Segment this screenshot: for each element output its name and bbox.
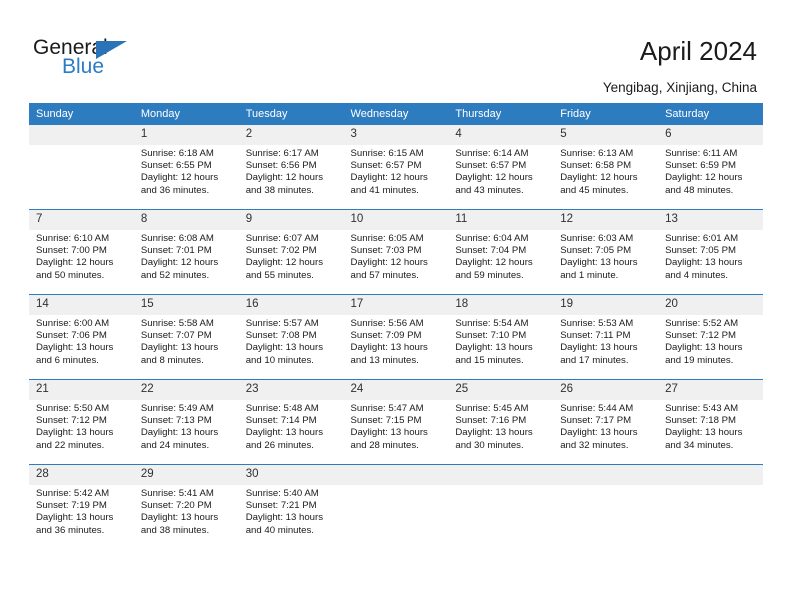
sunset-text: Sunset: 6:59 PM (665, 160, 758, 172)
sunrise-text: Sunrise: 5:41 AM (141, 488, 234, 500)
calendar-day-cell[interactable]: 12Sunrise: 6:03 AMSunset: 7:05 PMDayligh… (553, 210, 658, 295)
daylight-text-line2: and 30 minutes. (455, 440, 548, 452)
sunset-text: Sunset: 7:19 PM (36, 500, 129, 512)
daylight-text-line1: Daylight: 13 hours (141, 512, 234, 524)
sunrise-text: Sunrise: 5:49 AM (141, 403, 234, 415)
daylight-text-line1: Daylight: 12 hours (141, 172, 234, 184)
daylight-text-line2: and 26 minutes. (246, 440, 339, 452)
day-cell-content: 20Sunrise: 5:52 AMSunset: 7:12 PMDayligh… (658, 295, 763, 379)
sunrise-text: Sunrise: 6:03 AM (560, 233, 653, 245)
day-cell-content: 24Sunrise: 5:47 AMSunset: 7:15 PMDayligh… (344, 380, 449, 464)
day-cell-content: 26Sunrise: 5:44 AMSunset: 7:17 PMDayligh… (553, 380, 658, 464)
calendar-day-cell[interactable]: 3Sunrise: 6:15 AMSunset: 6:57 PMDaylight… (344, 125, 449, 210)
day-cell-content: 6Sunrise: 6:11 AMSunset: 6:59 PMDaylight… (658, 125, 763, 209)
sunrise-text: Sunrise: 5:43 AM (665, 403, 758, 415)
day-cell-content: 12Sunrise: 6:03 AMSunset: 7:05 PMDayligh… (553, 210, 658, 294)
sunset-text: Sunset: 6:57 PM (351, 160, 444, 172)
day-cell-content (344, 465, 449, 549)
day-number: 28 (29, 465, 134, 485)
daylight-text-line2: and 15 minutes. (455, 355, 548, 367)
day-sun-info: Sunrise: 5:44 AMSunset: 7:17 PMDaylight:… (553, 400, 658, 452)
sunrise-text: Sunrise: 6:13 AM (560, 148, 653, 160)
sunset-text: Sunset: 7:17 PM (560, 415, 653, 427)
calendar-day-cell[interactable]: 8Sunrise: 6:08 AMSunset: 7:01 PMDaylight… (134, 210, 239, 295)
sunset-text: Sunset: 7:20 PM (141, 500, 234, 512)
calendar-day-cell[interactable]: 22Sunrise: 5:49 AMSunset: 7:13 PMDayligh… (134, 380, 239, 465)
day-cell-content (448, 465, 553, 549)
day-sun-info: Sunrise: 6:00 AMSunset: 7:06 PMDaylight:… (29, 315, 134, 367)
daylight-text-line1: Daylight: 13 hours (665, 342, 758, 354)
daylight-text-line2: and 32 minutes. (560, 440, 653, 452)
weekday-header-sunday: Sunday (29, 103, 134, 125)
sunrise-text: Sunrise: 5:54 AM (455, 318, 548, 330)
daylight-text-line1: Daylight: 12 hours (665, 172, 758, 184)
sunset-text: Sunset: 7:03 PM (351, 245, 444, 257)
day-number: 20 (658, 295, 763, 315)
day-cell-content: 23Sunrise: 5:48 AMSunset: 7:14 PMDayligh… (239, 380, 344, 464)
calendar-week-row: 28Sunrise: 5:42 AMSunset: 7:19 PMDayligh… (29, 465, 763, 550)
day-number: 19 (553, 295, 658, 315)
calendar-day-cell[interactable]: 27Sunrise: 5:43 AMSunset: 7:18 PMDayligh… (658, 380, 763, 465)
day-number: 25 (448, 380, 553, 400)
page-title: April 2024 (640, 36, 757, 67)
daylight-text-line2: and 41 minutes. (351, 185, 444, 197)
daylight-text-line1: Daylight: 13 hours (36, 512, 129, 524)
day-sun-info: Sunrise: 5:50 AMSunset: 7:12 PMDaylight:… (29, 400, 134, 452)
daylight-text-line1: Daylight: 12 hours (560, 172, 653, 184)
calendar-day-cell[interactable]: 19Sunrise: 5:53 AMSunset: 7:11 PMDayligh… (553, 295, 658, 380)
sunrise-text: Sunrise: 5:53 AM (560, 318, 653, 330)
daylight-text-line2: and 57 minutes. (351, 270, 444, 282)
daylight-text-line2: and 1 minute. (560, 270, 653, 282)
daylight-text-line1: Daylight: 12 hours (351, 172, 444, 184)
daylight-text-line2: and 24 minutes. (141, 440, 234, 452)
weekday-header-thursday: Thursday (448, 103, 553, 125)
day-sun-info: Sunrise: 6:10 AMSunset: 7:00 PMDaylight:… (29, 230, 134, 282)
calendar-page: General Blue April 2024 Yengibag, Xinjia… (0, 0, 792, 612)
day-sun-info: Sunrise: 6:04 AMSunset: 7:04 PMDaylight:… (448, 230, 553, 282)
calendar-day-cell (29, 125, 134, 210)
day-number: 15 (134, 295, 239, 315)
daylight-text-line1: Daylight: 13 hours (351, 427, 444, 439)
day-cell-content: 9Sunrise: 6:07 AMSunset: 7:02 PMDaylight… (239, 210, 344, 294)
day-sun-info: Sunrise: 5:56 AMSunset: 7:09 PMDaylight:… (344, 315, 449, 367)
calendar-day-cell[interactable]: 20Sunrise: 5:52 AMSunset: 7:12 PMDayligh… (658, 295, 763, 380)
day-number: 7 (29, 210, 134, 230)
day-cell-content (553, 465, 658, 549)
day-sun-info: Sunrise: 6:11 AMSunset: 6:59 PMDaylight:… (658, 145, 763, 197)
page-subtitle: Yengibag, Xinjiang, China (603, 80, 757, 95)
daylight-text-line1: Daylight: 13 hours (665, 427, 758, 439)
sunset-text: Sunset: 7:10 PM (455, 330, 548, 342)
sunrise-text: Sunrise: 5:57 AM (246, 318, 339, 330)
weekday-header-tuesday: Tuesday (239, 103, 344, 125)
sunset-text: Sunset: 7:05 PM (560, 245, 653, 257)
day-cell-content: 3Sunrise: 6:15 AMSunset: 6:57 PMDaylight… (344, 125, 449, 209)
day-sun-info: Sunrise: 6:17 AMSunset: 6:56 PMDaylight:… (239, 145, 344, 197)
day-sun-info: Sunrise: 6:01 AMSunset: 7:05 PMDaylight:… (658, 230, 763, 282)
day-sun-info: Sunrise: 5:45 AMSunset: 7:16 PMDaylight:… (448, 400, 553, 452)
sunrise-text: Sunrise: 5:40 AM (246, 488, 339, 500)
calendar-day-cell[interactable]: 25Sunrise: 5:45 AMSunset: 7:16 PMDayligh… (448, 380, 553, 465)
daylight-text-line2: and 40 minutes. (246, 525, 339, 537)
calendar-day-cell[interactable]: 29Sunrise: 5:41 AMSunset: 7:20 PMDayligh… (134, 465, 239, 550)
calendar-week-row: 14Sunrise: 6:00 AMSunset: 7:06 PMDayligh… (29, 295, 763, 380)
daylight-text-line2: and 19 minutes. (665, 355, 758, 367)
daylight-text-line2: and 4 minutes. (665, 270, 758, 282)
sunrise-text: Sunrise: 6:10 AM (36, 233, 129, 245)
day-cell-content: 10Sunrise: 6:05 AMSunset: 7:03 PMDayligh… (344, 210, 449, 294)
daylight-text-line1: Daylight: 13 hours (560, 342, 653, 354)
sunset-text: Sunset: 7:13 PM (141, 415, 234, 427)
daylight-text-line1: Daylight: 13 hours (351, 342, 444, 354)
calendar-day-cell[interactable]: 30Sunrise: 5:40 AMSunset: 7:21 PMDayligh… (239, 465, 344, 550)
sunset-text: Sunset: 7:16 PM (455, 415, 548, 427)
daylight-text-line2: and 48 minutes. (665, 185, 758, 197)
day-sun-info: Sunrise: 5:52 AMSunset: 7:12 PMDaylight:… (658, 315, 763, 367)
day-number: 12 (553, 210, 658, 230)
day-cell-content: 11Sunrise: 6:04 AMSunset: 7:04 PMDayligh… (448, 210, 553, 294)
sunrise-text: Sunrise: 6:11 AM (665, 148, 758, 160)
calendar-day-cell (448, 465, 553, 550)
calendar-day-cell[interactable]: 4Sunrise: 6:14 AMSunset: 6:57 PMDaylight… (448, 125, 553, 210)
sunset-text: Sunset: 7:18 PM (665, 415, 758, 427)
sunrise-text: Sunrise: 5:56 AM (351, 318, 444, 330)
sunrise-text: Sunrise: 6:14 AM (455, 148, 548, 160)
day-sun-info: Sunrise: 5:41 AMSunset: 7:20 PMDaylight:… (134, 485, 239, 537)
calendar-day-cell[interactable]: 13Sunrise: 6:01 AMSunset: 7:05 PMDayligh… (658, 210, 763, 295)
day-sun-info: Sunrise: 5:42 AMSunset: 7:19 PMDaylight:… (29, 485, 134, 537)
day-cell-content: 4Sunrise: 6:14 AMSunset: 6:57 PMDaylight… (448, 125, 553, 209)
day-number: 17 (344, 295, 449, 315)
day-number: 6 (658, 125, 763, 145)
daylight-text-line1: Daylight: 12 hours (246, 172, 339, 184)
sunset-text: Sunset: 6:55 PM (141, 160, 234, 172)
daylight-text-line2: and 43 minutes. (455, 185, 548, 197)
daylight-text-line1: Daylight: 13 hours (560, 427, 653, 439)
calendar-day-cell[interactable]: 28Sunrise: 5:42 AMSunset: 7:19 PMDayligh… (29, 465, 134, 550)
day-sun-info: Sunrise: 5:43 AMSunset: 7:18 PMDaylight:… (658, 400, 763, 452)
day-sun-info: Sunrise: 5:58 AMSunset: 7:07 PMDaylight:… (134, 315, 239, 367)
sunset-text: Sunset: 7:09 PM (351, 330, 444, 342)
brand-word-blue: Blue (62, 55, 104, 79)
day-cell-content: 5Sunrise: 6:13 AMSunset: 6:58 PMDaylight… (553, 125, 658, 209)
daylight-text-line1: Daylight: 13 hours (141, 342, 234, 354)
sunset-text: Sunset: 6:57 PM (455, 160, 548, 172)
calendar-day-cell (553, 465, 658, 550)
day-number: 23 (239, 380, 344, 400)
daylight-text-line1: Daylight: 13 hours (246, 342, 339, 354)
day-sun-info: Sunrise: 5:40 AMSunset: 7:21 PMDaylight:… (239, 485, 344, 537)
sunrise-text: Sunrise: 6:05 AM (351, 233, 444, 245)
daylight-text-line2: and 6 minutes. (36, 355, 129, 367)
day-cell-content: 19Sunrise: 5:53 AMSunset: 7:11 PMDayligh… (553, 295, 658, 379)
day-number (448, 465, 553, 485)
day-number: 22 (134, 380, 239, 400)
calendar-table: Sunday Monday Tuesday Wednesday Thursday… (29, 103, 763, 549)
daylight-text-line2: and 17 minutes. (560, 355, 653, 367)
sunrise-text: Sunrise: 6:15 AM (351, 148, 444, 160)
day-cell-content: 13Sunrise: 6:01 AMSunset: 7:05 PMDayligh… (658, 210, 763, 294)
day-number (553, 465, 658, 485)
daylight-text-line1: Daylight: 12 hours (246, 257, 339, 269)
daylight-text-line2: and 38 minutes. (141, 525, 234, 537)
daylight-text-line1: Daylight: 13 hours (141, 427, 234, 439)
daylight-text-line1: Daylight: 12 hours (455, 257, 548, 269)
day-cell-content: 8Sunrise: 6:08 AMSunset: 7:01 PMDaylight… (134, 210, 239, 294)
sunset-text: Sunset: 7:21 PM (246, 500, 339, 512)
daylight-text-line2: and 34 minutes. (665, 440, 758, 452)
day-number: 8 (134, 210, 239, 230)
calendar-day-cell[interactable]: 11Sunrise: 6:04 AMSunset: 7:04 PMDayligh… (448, 210, 553, 295)
calendar-day-cell (658, 465, 763, 550)
day-cell-content: 17Sunrise: 5:56 AMSunset: 7:09 PMDayligh… (344, 295, 449, 379)
daylight-text-line1: Daylight: 12 hours (141, 257, 234, 269)
day-number: 5 (553, 125, 658, 145)
weekday-header-wednesday: Wednesday (344, 103, 449, 125)
calendar-day-cell[interactable]: 14Sunrise: 6:00 AMSunset: 7:06 PMDayligh… (29, 295, 134, 380)
calendar-day-cell[interactable]: 16Sunrise: 5:57 AMSunset: 7:08 PMDayligh… (239, 295, 344, 380)
calendar-day-cell[interactable]: 23Sunrise: 5:48 AMSunset: 7:14 PMDayligh… (239, 380, 344, 465)
weekday-header-saturday: Saturday (658, 103, 763, 125)
daylight-text-line1: Daylight: 13 hours (246, 427, 339, 439)
day-number: 16 (239, 295, 344, 315)
daylight-text-line1: Daylight: 13 hours (665, 257, 758, 269)
day-sun-info: Sunrise: 5:54 AMSunset: 7:10 PMDaylight:… (448, 315, 553, 367)
daylight-text-line2: and 13 minutes. (351, 355, 444, 367)
day-sun-info: Sunrise: 6:13 AMSunset: 6:58 PMDaylight:… (553, 145, 658, 197)
calendar-day-cell[interactable]: 17Sunrise: 5:56 AMSunset: 7:09 PMDayligh… (344, 295, 449, 380)
day-sun-info: Sunrise: 6:05 AMSunset: 7:03 PMDaylight:… (344, 230, 449, 282)
day-cell-content: 30Sunrise: 5:40 AMSunset: 7:21 PMDayligh… (239, 465, 344, 549)
day-number: 26 (553, 380, 658, 400)
day-cell-content: 25Sunrise: 5:45 AMSunset: 7:16 PMDayligh… (448, 380, 553, 464)
day-cell-content: 29Sunrise: 5:41 AMSunset: 7:20 PMDayligh… (134, 465, 239, 549)
day-number: 1 (134, 125, 239, 145)
calendar-day-cell[interactable]: 24Sunrise: 5:47 AMSunset: 7:15 PMDayligh… (344, 380, 449, 465)
calendar-week-row: 1Sunrise: 6:18 AMSunset: 6:55 PMDaylight… (29, 125, 763, 210)
sunset-text: Sunset: 7:11 PM (560, 330, 653, 342)
sunrise-text: Sunrise: 5:45 AM (455, 403, 548, 415)
sunset-text: Sunset: 7:15 PM (351, 415, 444, 427)
day-number: 10 (344, 210, 449, 230)
calendar-day-cell[interactable]: 1Sunrise: 6:18 AMSunset: 6:55 PMDaylight… (134, 125, 239, 210)
sunset-text: Sunset: 7:12 PM (665, 330, 758, 342)
sunset-text: Sunset: 7:04 PM (455, 245, 548, 257)
sunrise-text: Sunrise: 6:07 AM (246, 233, 339, 245)
daylight-text-line2: and 59 minutes. (455, 270, 548, 282)
day-cell-content: 14Sunrise: 6:00 AMSunset: 7:06 PMDayligh… (29, 295, 134, 379)
daylight-text-line2: and 38 minutes. (246, 185, 339, 197)
calendar-week-row: 7Sunrise: 6:10 AMSunset: 7:00 PMDaylight… (29, 210, 763, 295)
sunrise-text: Sunrise: 5:48 AM (246, 403, 339, 415)
day-cell-content: 7Sunrise: 6:10 AMSunset: 7:00 PMDaylight… (29, 210, 134, 294)
daylight-text-line2: and 50 minutes. (36, 270, 129, 282)
calendar-day-cell[interactable]: 9Sunrise: 6:07 AMSunset: 7:02 PMDaylight… (239, 210, 344, 295)
day-number: 24 (344, 380, 449, 400)
sunrise-text: Sunrise: 5:44 AM (560, 403, 653, 415)
day-sun-info: Sunrise: 6:15 AMSunset: 6:57 PMDaylight:… (344, 145, 449, 197)
calendar-day-cell[interactable]: 18Sunrise: 5:54 AMSunset: 7:10 PMDayligh… (448, 295, 553, 380)
day-sun-info: Sunrise: 5:57 AMSunset: 7:08 PMDaylight:… (239, 315, 344, 367)
day-number: 27 (658, 380, 763, 400)
sunset-text: Sunset: 7:07 PM (141, 330, 234, 342)
day-cell-content: 28Sunrise: 5:42 AMSunset: 7:19 PMDayligh… (29, 465, 134, 549)
page-header: General Blue April 2024 Yengibag, Xinjia… (0, 0, 792, 103)
daylight-text-line2: and 8 minutes. (141, 355, 234, 367)
day-cell-content: 1Sunrise: 6:18 AMSunset: 6:55 PMDaylight… (134, 125, 239, 209)
sunrise-text: Sunrise: 5:58 AM (141, 318, 234, 330)
day-number: 13 (658, 210, 763, 230)
daylight-text-line2: and 55 minutes. (246, 270, 339, 282)
day-number (29, 125, 134, 145)
sunset-text: Sunset: 6:58 PM (560, 160, 653, 172)
sunrise-text: Sunrise: 6:01 AM (665, 233, 758, 245)
day-number: 18 (448, 295, 553, 315)
sunrise-text: Sunrise: 6:00 AM (36, 318, 129, 330)
brand-logo: General Blue (33, 36, 183, 88)
sunset-text: Sunset: 7:14 PM (246, 415, 339, 427)
day-cell-content: 15Sunrise: 5:58 AMSunset: 7:07 PMDayligh… (134, 295, 239, 379)
calendar-day-cell[interactable]: 10Sunrise: 6:05 AMSunset: 7:03 PMDayligh… (344, 210, 449, 295)
day-number: 4 (448, 125, 553, 145)
day-number (658, 465, 763, 485)
calendar-day-cell[interactable]: 5Sunrise: 6:13 AMSunset: 6:58 PMDaylight… (553, 125, 658, 210)
sunset-text: Sunset: 7:01 PM (141, 245, 234, 257)
day-cell-content: 18Sunrise: 5:54 AMSunset: 7:10 PMDayligh… (448, 295, 553, 379)
daylight-text-line2: and 36 minutes. (141, 185, 234, 197)
day-number: 14 (29, 295, 134, 315)
calendar-day-cell[interactable]: 15Sunrise: 5:58 AMSunset: 7:07 PMDayligh… (134, 295, 239, 380)
day-sun-info: Sunrise: 5:48 AMSunset: 7:14 PMDaylight:… (239, 400, 344, 452)
day-number: 9 (239, 210, 344, 230)
day-sun-info: Sunrise: 5:53 AMSunset: 7:11 PMDaylight:… (553, 315, 658, 367)
daylight-text-line1: Daylight: 13 hours (455, 427, 548, 439)
calendar-day-cell[interactable]: 26Sunrise: 5:44 AMSunset: 7:17 PMDayligh… (553, 380, 658, 465)
calendar-body: 1Sunrise: 6:18 AMSunset: 6:55 PMDaylight… (29, 125, 763, 549)
day-sun-info: Sunrise: 6:14 AMSunset: 6:57 PMDaylight:… (448, 145, 553, 197)
calendar-day-cell[interactable]: 6Sunrise: 6:11 AMSunset: 6:59 PMDaylight… (658, 125, 763, 210)
weekday-header-monday: Monday (134, 103, 239, 125)
sunrise-text: Sunrise: 5:52 AM (665, 318, 758, 330)
daylight-text-line1: Daylight: 12 hours (351, 257, 444, 269)
day-sun-info: Sunrise: 6:07 AMSunset: 7:02 PMDaylight:… (239, 230, 344, 282)
daylight-text-line1: Daylight: 13 hours (455, 342, 548, 354)
day-number: 11 (448, 210, 553, 230)
calendar-week-row: 21Sunrise: 5:50 AMSunset: 7:12 PMDayligh… (29, 380, 763, 465)
day-cell-content: 27Sunrise: 5:43 AMSunset: 7:18 PMDayligh… (658, 380, 763, 464)
sunrise-text: Sunrise: 6:17 AM (246, 148, 339, 160)
day-sun-info: Sunrise: 5:49 AMSunset: 7:13 PMDaylight:… (134, 400, 239, 452)
daylight-text-line2: and 28 minutes. (351, 440, 444, 452)
sunrise-text: Sunrise: 6:04 AM (455, 233, 548, 245)
daylight-text-line2: and 22 minutes. (36, 440, 129, 452)
day-number (344, 465, 449, 485)
sunrise-text: Sunrise: 5:47 AM (351, 403, 444, 415)
daylight-text-line2: and 36 minutes. (36, 525, 129, 537)
daylight-text-line1: Daylight: 13 hours (36, 342, 129, 354)
daylight-text-line2: and 10 minutes. (246, 355, 339, 367)
daylight-text-line1: Daylight: 13 hours (560, 257, 653, 269)
day-cell-content: 22Sunrise: 5:49 AMSunset: 7:13 PMDayligh… (134, 380, 239, 464)
weekday-header-friday: Friday (553, 103, 658, 125)
day-sun-info: Sunrise: 6:18 AMSunset: 6:55 PMDaylight:… (134, 145, 239, 197)
sunset-text: Sunset: 7:08 PM (246, 330, 339, 342)
day-number: 3 (344, 125, 449, 145)
day-cell-content: 21Sunrise: 5:50 AMSunset: 7:12 PMDayligh… (29, 380, 134, 464)
day-cell-content (29, 125, 134, 209)
day-number: 21 (29, 380, 134, 400)
sunrise-text: Sunrise: 5:42 AM (36, 488, 129, 500)
calendar-day-cell[interactable]: 21Sunrise: 5:50 AMSunset: 7:12 PMDayligh… (29, 380, 134, 465)
sunset-text: Sunset: 7:00 PM (36, 245, 129, 257)
sunrise-text: Sunrise: 6:18 AM (141, 148, 234, 160)
sunset-text: Sunset: 7:06 PM (36, 330, 129, 342)
day-cell-content: 16Sunrise: 5:57 AMSunset: 7:08 PMDayligh… (239, 295, 344, 379)
day-number: 2 (239, 125, 344, 145)
day-number: 30 (239, 465, 344, 485)
sunrise-text: Sunrise: 6:08 AM (141, 233, 234, 245)
sunrise-text: Sunrise: 5:50 AM (36, 403, 129, 415)
day-cell-content (658, 465, 763, 549)
day-sun-info: Sunrise: 6:03 AMSunset: 7:05 PMDaylight:… (553, 230, 658, 282)
sunset-text: Sunset: 7:02 PM (246, 245, 339, 257)
calendar-day-cell (344, 465, 449, 550)
day-sun-info: Sunrise: 6:08 AMSunset: 7:01 PMDaylight:… (134, 230, 239, 282)
daylight-text-line1: Daylight: 12 hours (36, 257, 129, 269)
daylight-text-line1: Daylight: 13 hours (246, 512, 339, 524)
daylight-text-line1: Daylight: 13 hours (36, 427, 129, 439)
day-cell-content: 2Sunrise: 6:17 AMSunset: 6:56 PMDaylight… (239, 125, 344, 209)
sunset-text: Sunset: 6:56 PM (246, 160, 339, 172)
sunset-text: Sunset: 7:12 PM (36, 415, 129, 427)
day-number: 29 (134, 465, 239, 485)
daylight-text-line2: and 45 minutes. (560, 185, 653, 197)
day-sun-info: Sunrise: 5:47 AMSunset: 7:15 PMDaylight:… (344, 400, 449, 452)
calendar-day-cell[interactable]: 2Sunrise: 6:17 AMSunset: 6:56 PMDaylight… (239, 125, 344, 210)
daylight-text-line1: Daylight: 12 hours (455, 172, 548, 184)
daylight-text-line2: and 52 minutes. (141, 270, 234, 282)
calendar-day-cell[interactable]: 7Sunrise: 6:10 AMSunset: 7:00 PMDaylight… (29, 210, 134, 295)
sunset-text: Sunset: 7:05 PM (665, 245, 758, 257)
calendar-header-row: Sunday Monday Tuesday Wednesday Thursday… (29, 103, 763, 125)
